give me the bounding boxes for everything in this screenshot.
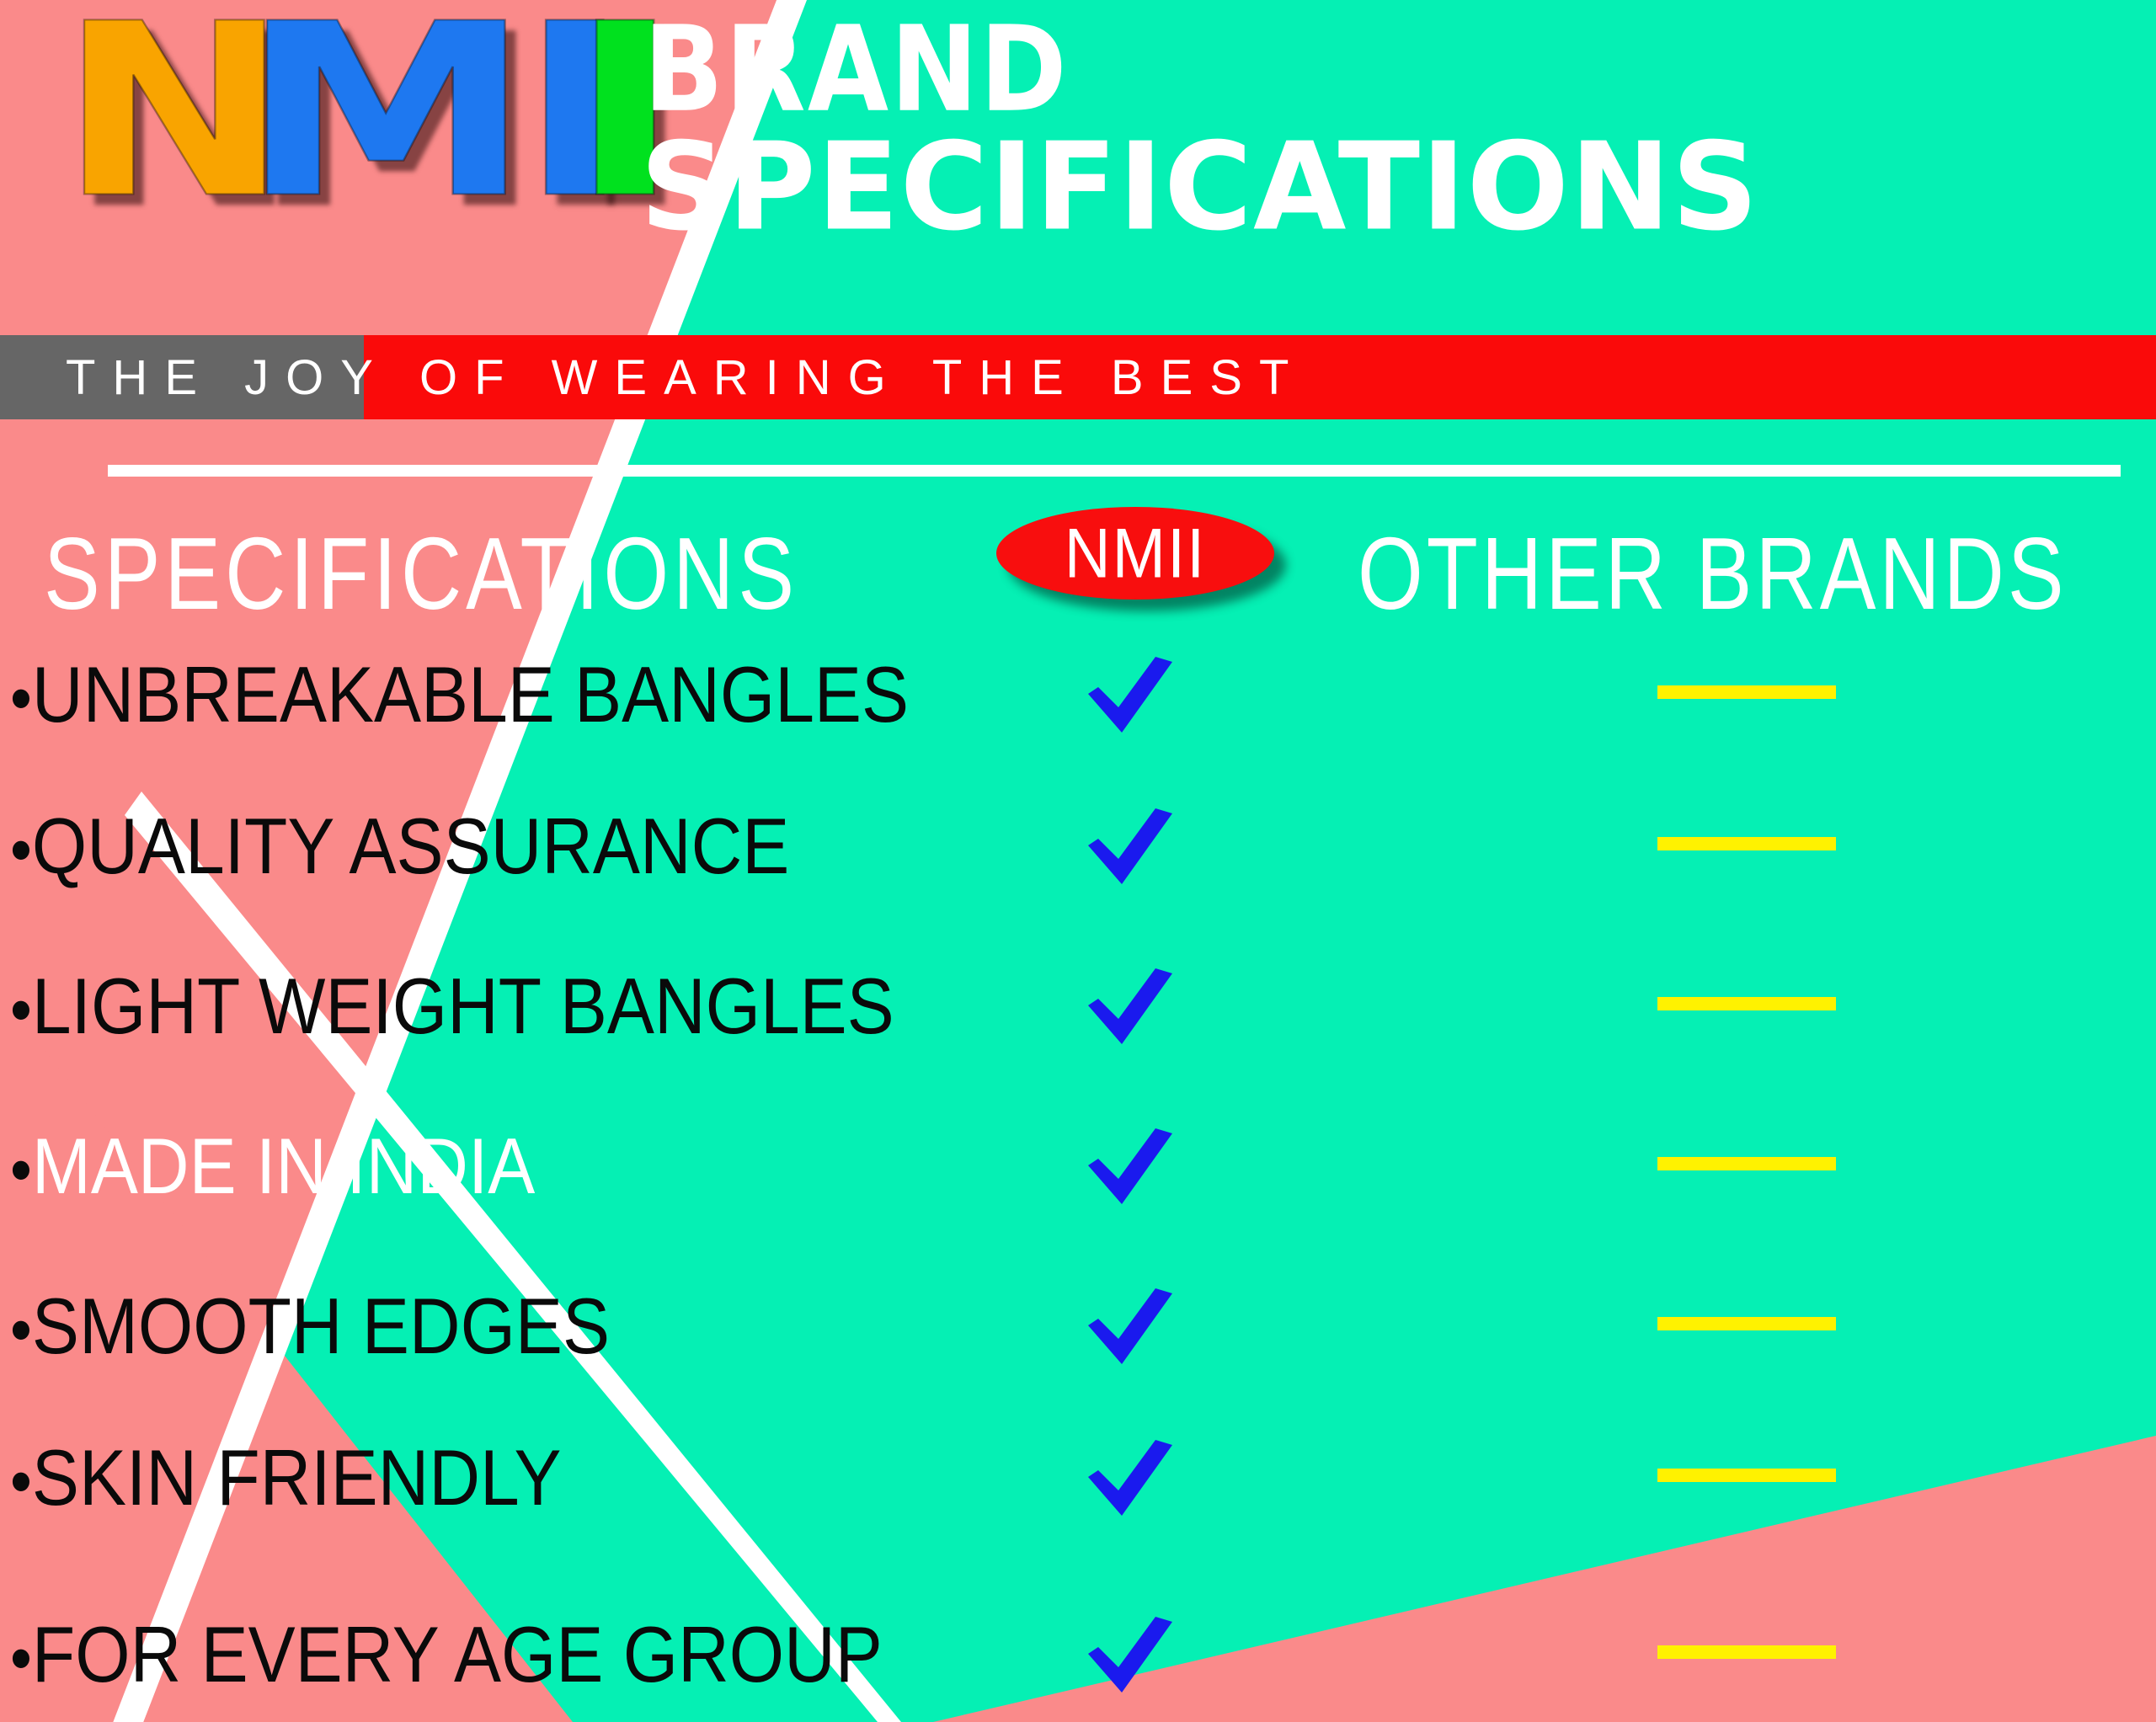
check-icon: [1085, 655, 1177, 736]
dash-icon: [1657, 997, 1836, 1010]
column-header-specifications: SPECIFICATIONS: [44, 515, 798, 633]
table-row: •MADE IN INDIA: [0, 1120, 2156, 1213]
row-label-text: LIGHT WEIGHT BANGLES: [32, 962, 894, 1050]
row-label-quality-assurance: •QUALITY ASSURANCE: [10, 794, 789, 902]
check-icon: [1085, 1438, 1177, 1519]
row-label-text: SMOOTH EDGES: [32, 1282, 610, 1370]
dash-icon: [1657, 1157, 1836, 1170]
dash-icon: [1657, 685, 1836, 699]
bullet-icon: •: [10, 1618, 32, 1697]
row-label-smooth-edges: •SMOOTH EDGES: [10, 1274, 610, 1382]
table-row: •SMOOTH EDGES: [0, 1280, 2156, 1373]
bullet-icon: •: [10, 970, 32, 1048]
row-label-for-every-age-group: •FOR EVERY AGE GROUP: [10, 1602, 883, 1710]
nmii-badge: NMII: [996, 507, 1274, 600]
row-label-skin-friendly: •SKIN FRIENDLY: [10, 1426, 562, 1533]
bullet-icon: •: [10, 1442, 32, 1520]
header-divider-rule: [108, 465, 2121, 477]
bullet-icon: •: [10, 1290, 32, 1368]
comparison-rows: •UNBREAKABLE BANGLES•QUALITY ASSURANCE•L…: [0, 648, 2156, 1722]
row-label-made-in-india: •MADE IN INDIA: [10, 1114, 535, 1222]
nmii-badge-label: NMII: [1065, 513, 1206, 594]
dash-icon: [1657, 837, 1836, 850]
dash-icon: [1657, 1317, 1836, 1330]
row-label-text: FOR EVERY AGE GROUP: [32, 1610, 883, 1698]
tagline-text: THE JOY OF WEARING THE BEST: [0, 335, 2156, 419]
table-row: •FOR EVERY AGE GROUP: [0, 1608, 2156, 1701]
table-row: •UNBREAKABLE BANGLES: [0, 648, 2156, 741]
check-icon: [1085, 967, 1177, 1048]
row-label-text: UNBREAKABLE BANGLES: [32, 650, 909, 738]
check-icon: [1085, 1127, 1177, 1208]
table-column-headers: SPECIFICATIONS NMII OTHER BRANDS: [0, 505, 2156, 640]
column-header-other-brands: OTHER BRANDS: [1358, 515, 2068, 633]
table-row: •LIGHT WEIGHT BANGLES: [0, 960, 2156, 1053]
row-label-unbreakable-bangles: •UNBREAKABLE BANGLES: [10, 642, 909, 750]
table-row: •QUALITY ASSURANCE: [0, 800, 2156, 893]
check-icon: [1085, 807, 1177, 888]
poster-canvas: N M I I BRAND SPECIFICATIONS THE JOY OF …: [0, 0, 2156, 1722]
logo-letter-m: M: [240, 8, 526, 216]
bullet-icon: •: [10, 658, 32, 737]
bullet-icon: •: [10, 1130, 32, 1208]
row-label-text: QUALITY ASSURANCE: [32, 802, 789, 890]
table-row: •SKIN FRIENDLY: [0, 1431, 2156, 1524]
row-label-text: SKIN FRIENDLY: [32, 1433, 562, 1522]
bullet-icon: •: [10, 810, 32, 888]
check-icon: [1085, 1615, 1177, 1696]
row-label-light-weight-bangles: •LIGHT WEIGHT BANGLES: [10, 954, 894, 1062]
dash-icon: [1657, 1645, 1836, 1659]
header-title-specifications: SPECIFICATIONS: [640, 109, 2156, 241]
header-title-block: BRAND SPECIFICATIONS: [640, 15, 2148, 217]
check-icon: [1085, 1287, 1177, 1367]
header-title-brand: BRAND: [640, 15, 2156, 124]
dash-icon: [1657, 1469, 1836, 1482]
row-label-text: MADE IN INDIA: [32, 1122, 535, 1210]
